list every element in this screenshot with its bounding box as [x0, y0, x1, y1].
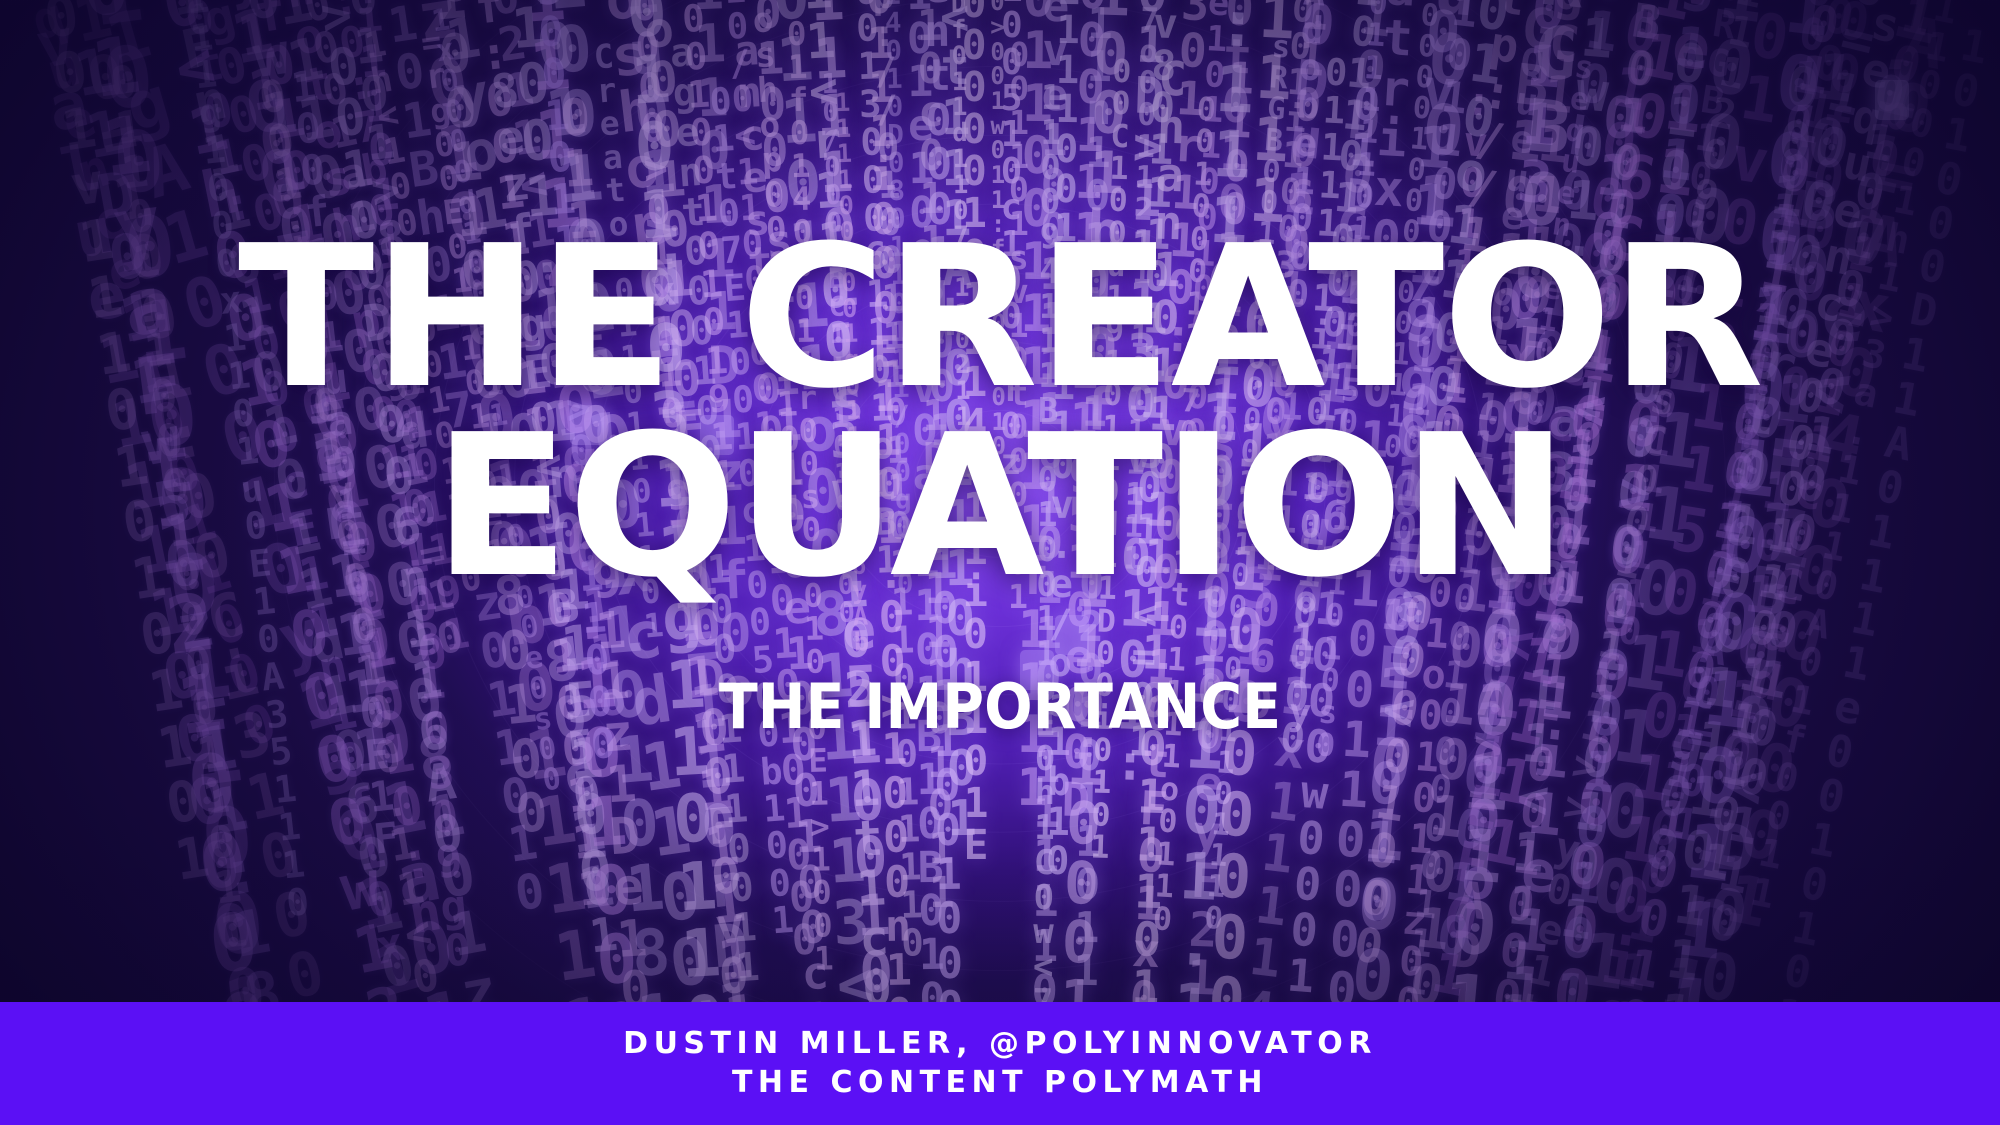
title-line-1: THE CREATOR	[0, 228, 2000, 408]
slide-canvas: s e q u e n c e 1 1 0 0 1 1 0 0 0 . 0 1 …	[0, 0, 2000, 1125]
headline-block: THE CREATOR EQUATION	[0, 228, 2000, 601]
highlighted-glyph-block	[1875, 80, 1909, 120]
subtitle: THE IMPORTANCE	[80, 676, 1920, 738]
footer-tagline: THE CONTENT POLYMATH	[732, 1064, 1268, 1102]
title-line-2: EQUATION	[0, 414, 2000, 600]
footer-bar: DUSTIN MILLER, @POLYINNOVATOR THE CONTEN…	[0, 1002, 2000, 1125]
footer-author-line: DUSTIN MILLER, @POLYINNOVATOR	[623, 1025, 1377, 1063]
